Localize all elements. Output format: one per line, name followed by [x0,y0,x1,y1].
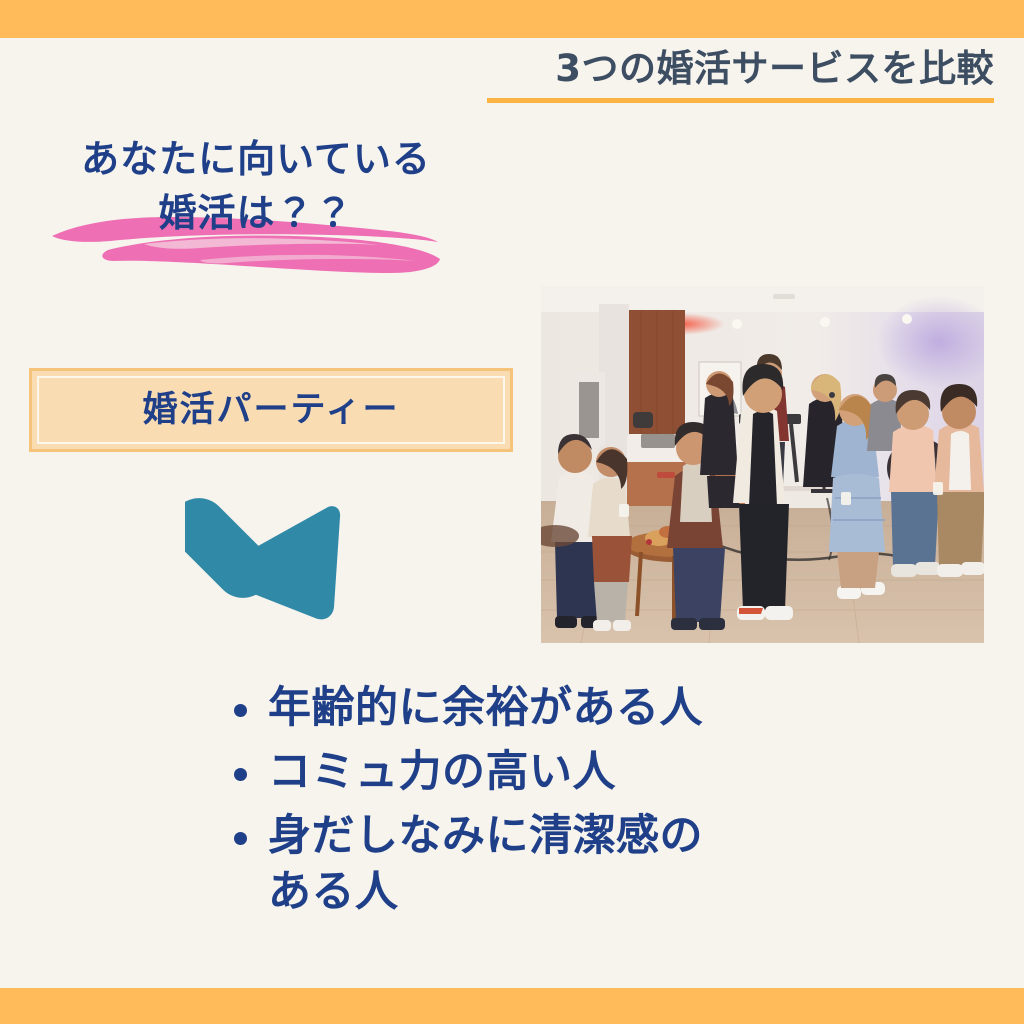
category-badge-inner: 婚活パーティー [37,376,505,444]
bullet-dot-icon [234,704,247,717]
headline-line-2: 婚活は？？ [46,187,466,241]
bullet-line: 身だしなみに清潔感の [268,808,922,865]
top-orange-band [0,0,1024,38]
down-right-arrow-icon [185,465,350,630]
page-title: 3つの婚活サービスを比較 [487,48,994,91]
bullet-list: 年齢的に余裕がある人 コミュ力の高い人 身だしなみに清潔感の ある人 [222,680,922,928]
slide-root: 3つの婚活サービスを比較 あなたに向いている 婚活は？？ 婚活パーティー [0,0,1024,1024]
list-item: 身だしなみに清潔感の ある人 [222,808,922,922]
bullet-dot-icon [234,832,247,845]
header: 3つの婚活サービスを比較 [487,48,994,103]
headline-block: あなたに向いている 婚活は？？ [46,133,466,241]
category-badge-label: 婚活パーティー [143,393,400,428]
bottom-orange-band [0,988,1024,1024]
bullet-line: 年齢的に余裕がある人 [268,680,922,737]
bullet-line: ある人 [268,864,922,921]
headline-line-1: あなたに向いている [46,133,466,187]
bullet-dot-icon [234,768,247,781]
bullet-line: コミュ力の高い人 [268,744,922,801]
list-item: コミュ力の高い人 [222,744,922,801]
category-badge: 婚活パーティー [29,368,513,452]
party-photo [541,286,984,643]
list-item: 年齢的に余裕がある人 [222,680,922,737]
headline-text: あなたに向いている 婚活は？？ [46,133,466,241]
title-underline [487,98,994,103]
